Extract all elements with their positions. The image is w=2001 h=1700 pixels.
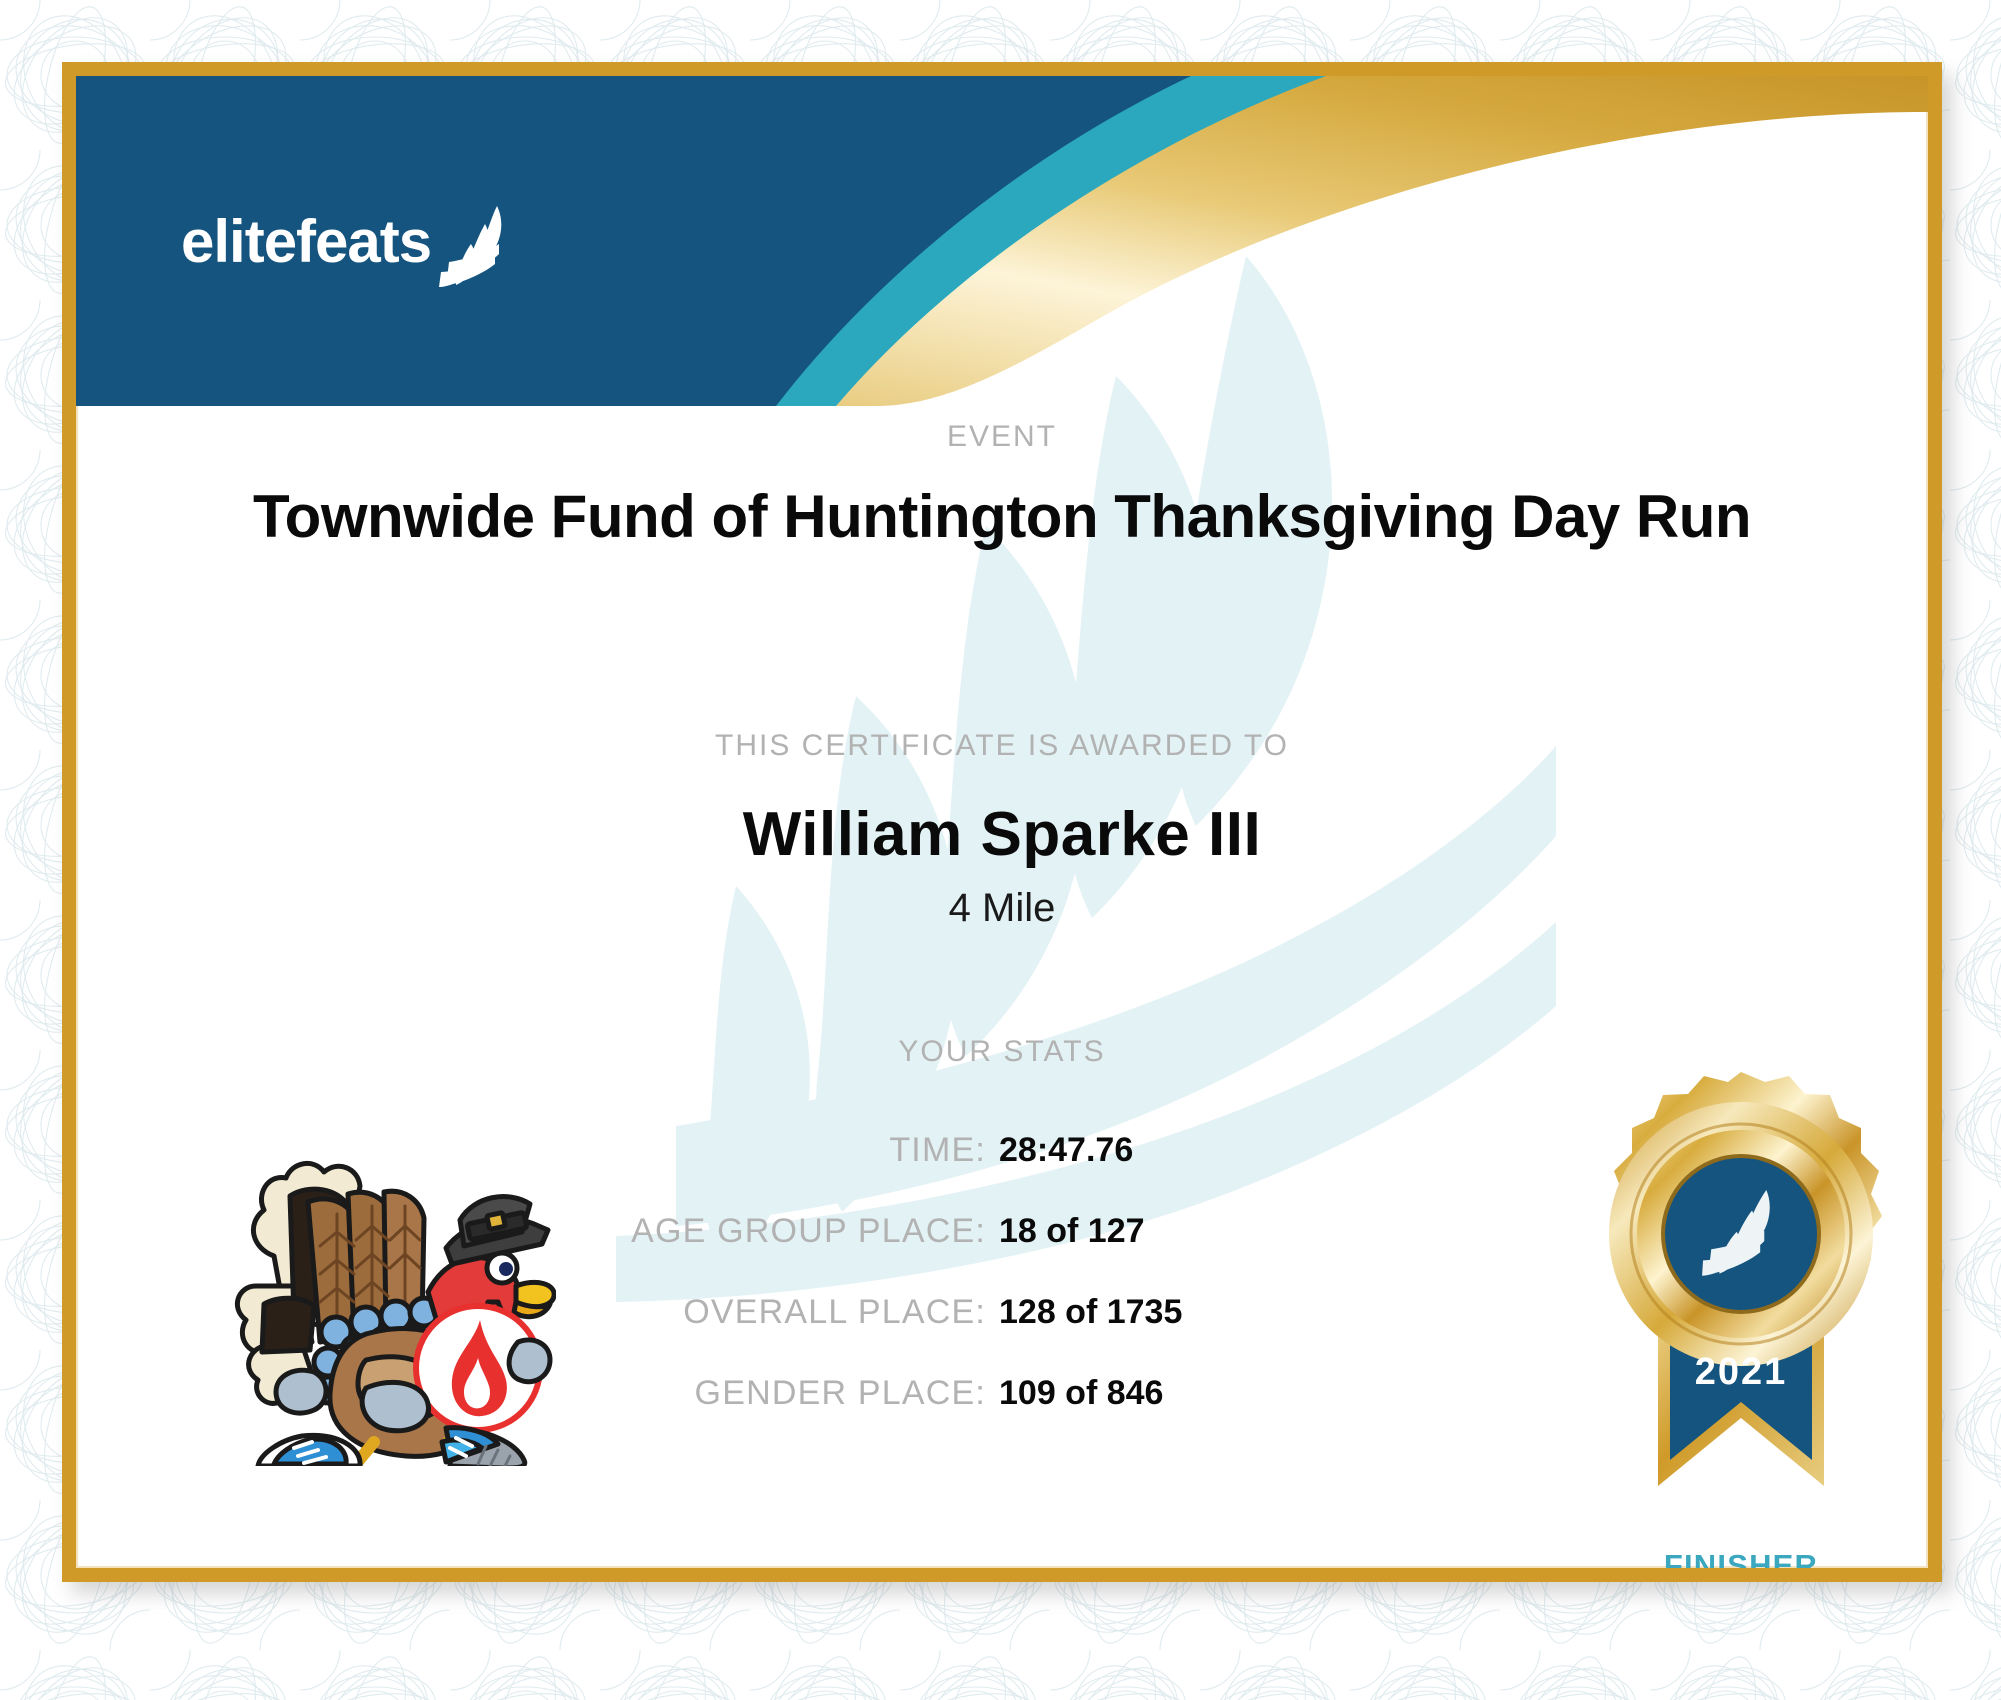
event-kicker: EVENT	[76, 420, 1928, 454]
event-title: Townwide Fund of Huntington Thanksgiving…	[76, 482, 1928, 551]
winged-foot-icon	[435, 204, 517, 290]
badge-year: 2021	[1695, 1351, 1788, 1393]
awardee-distance: 4 Mile	[76, 886, 1928, 931]
certificate-frame: elitefeats EVENT Townwide Fund of Huntin…	[62, 62, 1942, 1582]
stat-value: 18 of 127	[999, 1212, 1145, 1251]
stat-value: 28:47.76	[999, 1131, 1133, 1170]
awardee-name: William Sparke III	[76, 799, 1928, 870]
running-turkey-pilgrim-icon	[216, 1136, 556, 1466]
badge-caption: FINISHER CERTIFICATE	[1566, 1548, 1916, 1582]
stat-value: 109 of 846	[999, 1374, 1163, 1413]
brand-logo: elitefeats	[181, 204, 517, 272]
brand-logo-text: elitefeats	[181, 212, 431, 272]
stat-value: 128 of 1735	[999, 1293, 1182, 1332]
finisher-medal-badge: 2021	[1566, 1066, 1916, 1506]
stats-kicker: YOUR STATS	[76, 1035, 1928, 1069]
awarded-to-kicker: THIS CERTIFICATE IS AWARDED TO	[76, 729, 1928, 763]
badge-caption-line1: FINISHER	[1566, 1548, 1916, 1582]
